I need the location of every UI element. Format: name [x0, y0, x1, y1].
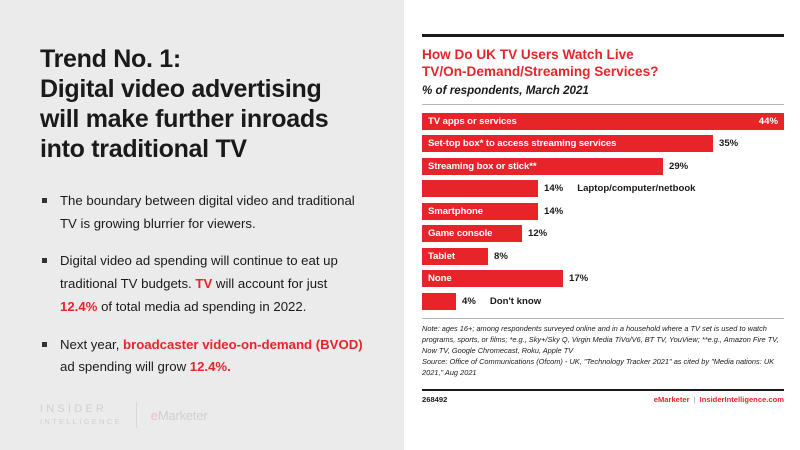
bar-category-label: Laptop/computer/netbook [577, 180, 695, 197]
bar-value-label: 14% [544, 180, 563, 197]
body-text: will account for just [212, 276, 327, 291]
list-item: The boundary between digital video and t… [40, 190, 368, 235]
chart-notes: Note: ages 16+; among respondents survey… [422, 324, 784, 379]
brand-logos: INSIDER INTELLIGENCE eMarketer [40, 402, 208, 428]
chart-bottom-rule [422, 389, 784, 392]
insider-logo-line2: INTELLIGENCE [40, 417, 122, 426]
chart-id: 268492 [422, 395, 447, 404]
bar-row: Smartphone14% [422, 203, 784, 220]
bar-row: 14%Laptop/computer/netbook [422, 180, 784, 197]
chart-footer-brand: eMarketer | InsiderIntelligence.com [654, 395, 784, 404]
bar-category-label: Don't know [490, 293, 541, 310]
bullet-square-icon [42, 258, 47, 263]
bar-value-label: 17% [569, 270, 588, 287]
bar-row: Tablet8% [422, 248, 784, 265]
chart-title: How Do UK TV Users Watch Live TV/On-Dema… [422, 46, 784, 81]
bar-category-label: TV apps or services [428, 116, 517, 127]
bar-row: Set-top box* to access streaming service… [422, 135, 784, 152]
left-content-panel: Trend No. 1: Digital video advertising w… [0, 0, 404, 450]
footer-emarketer-label: eMarketer [654, 395, 690, 404]
bar-segment: Tablet [422, 248, 488, 265]
chart-header-rule [422, 104, 784, 105]
bar-segment: Game console [422, 225, 522, 242]
bar-segment [422, 293, 456, 310]
bar-chart: TV apps or services44%Set-top box* to ac… [422, 113, 784, 310]
chart-panel: How Do UK TV Users Watch Live TV/On-Dema… [404, 0, 800, 450]
bar-segment: Set-top box* to access streaming service… [422, 135, 713, 152]
bullet-square-icon [42, 198, 47, 203]
bar-segment: Smartphone [422, 203, 538, 220]
bar-value-label: 14% [544, 203, 563, 220]
slide: Trend No. 1: Digital video advertising w… [0, 0, 800, 450]
highlighted-text: 12.4%. [190, 359, 231, 374]
bar-category-label: Tablet [428, 251, 455, 262]
chart-notes-rule [422, 318, 784, 319]
bar-row: TV apps or services44% [422, 113, 784, 130]
bar-value-label: 29% [669, 158, 688, 175]
logo-divider [136, 402, 137, 428]
insider-logo-line1: INSIDER [40, 403, 122, 417]
bar-value-label: 12% [528, 225, 547, 242]
bar-category-label: Set-top box* to access streaming service… [428, 138, 616, 149]
bar-segment: Streaming box or stick** [422, 158, 663, 175]
bar-category-label: None [428, 273, 452, 284]
emarketer-logo-e: e [151, 408, 158, 423]
bar-value-label: 8% [494, 248, 508, 265]
body-text: Next year, [60, 337, 123, 352]
page-title: Trend No. 1: Digital video advertising w… [40, 44, 368, 164]
emarketer-logo-rest: Marketer [158, 408, 208, 423]
bar-segment [422, 180, 538, 197]
insider-intelligence-logo: INSIDER INTELLIGENCE [40, 403, 122, 426]
key-points-list: The boundary between digital video and t… [40, 190, 368, 379]
bar-row: 4%Don't know [422, 293, 784, 310]
bar-value-label: 44% [759, 116, 778, 127]
bar-value-label: 35% [719, 135, 738, 152]
bar-value-label: 4% [462, 293, 476, 310]
bullet-square-icon [42, 342, 47, 347]
emarketer-logo: eMarketer [151, 408, 208, 423]
footer-insider-link[interactable]: InsiderIntelligence.com [700, 395, 784, 404]
body-text: of total media ad spending in 2022. [97, 299, 306, 314]
body-text: The boundary between digital video and t… [60, 193, 355, 231]
bar-category-label: Game console [428, 228, 492, 239]
bar-segment: None [422, 270, 563, 287]
bar-category-label: Streaming box or stick** [428, 161, 537, 172]
body-text: ad spending will grow [60, 359, 190, 374]
chart-top-rule [422, 34, 784, 37]
highlighted-text: 12.4% [60, 299, 97, 314]
chart-footer: 268492 eMarketer | InsiderIntelligence.c… [422, 395, 784, 404]
chart-subtitle: % of respondents, March 2021 [422, 84, 784, 97]
footer-brand-pipe: | [694, 395, 696, 404]
highlighted-text: broadcaster video-on-demand (BVOD) [123, 337, 363, 352]
bar-category-label: Smartphone [428, 206, 483, 217]
bar-segment: TV apps or services44% [422, 113, 784, 130]
bar-row: Streaming box or stick**29% [422, 158, 784, 175]
bar-row: None17% [422, 270, 784, 287]
highlighted-text: TV [195, 276, 212, 291]
bar-row: Game console12% [422, 225, 784, 242]
list-item: Next year, broadcaster video-on-demand (… [40, 334, 368, 379]
list-item: Digital video ad spending will continue … [40, 250, 368, 318]
